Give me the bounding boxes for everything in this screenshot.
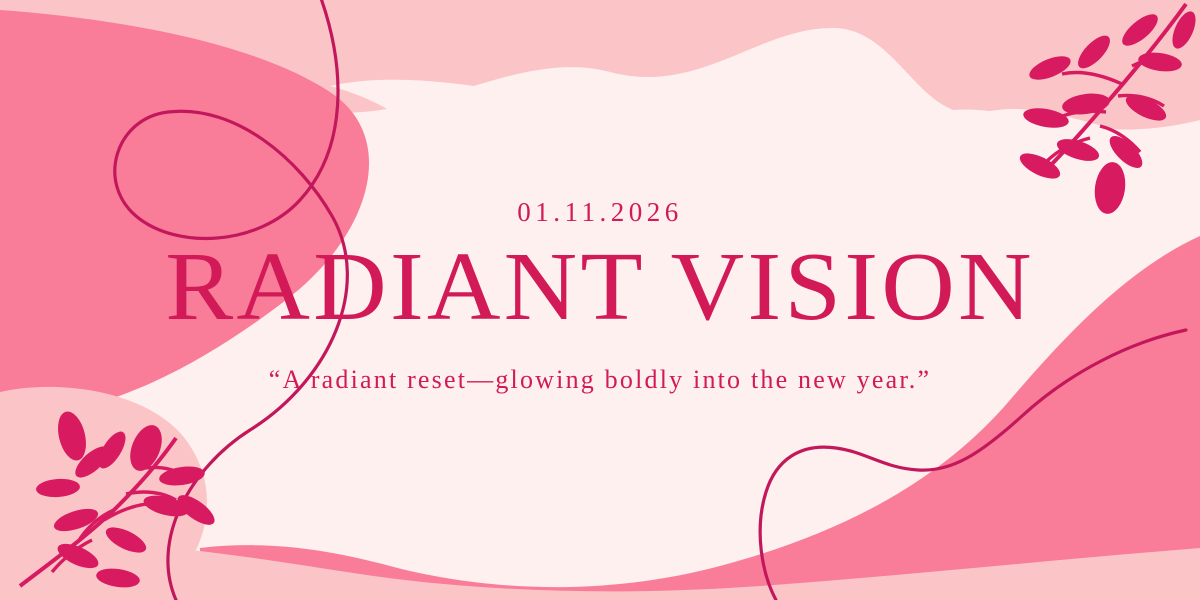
event-date: 01.11.2026 [517,199,683,226]
banner-canvas: 01.11.2026 RADIANT VISION “A radiant res… [0,0,1200,600]
page-title: RADIANT VISION [165,240,1034,334]
tagline: “A radiant reset—glowing boldly into the… [269,360,931,400]
